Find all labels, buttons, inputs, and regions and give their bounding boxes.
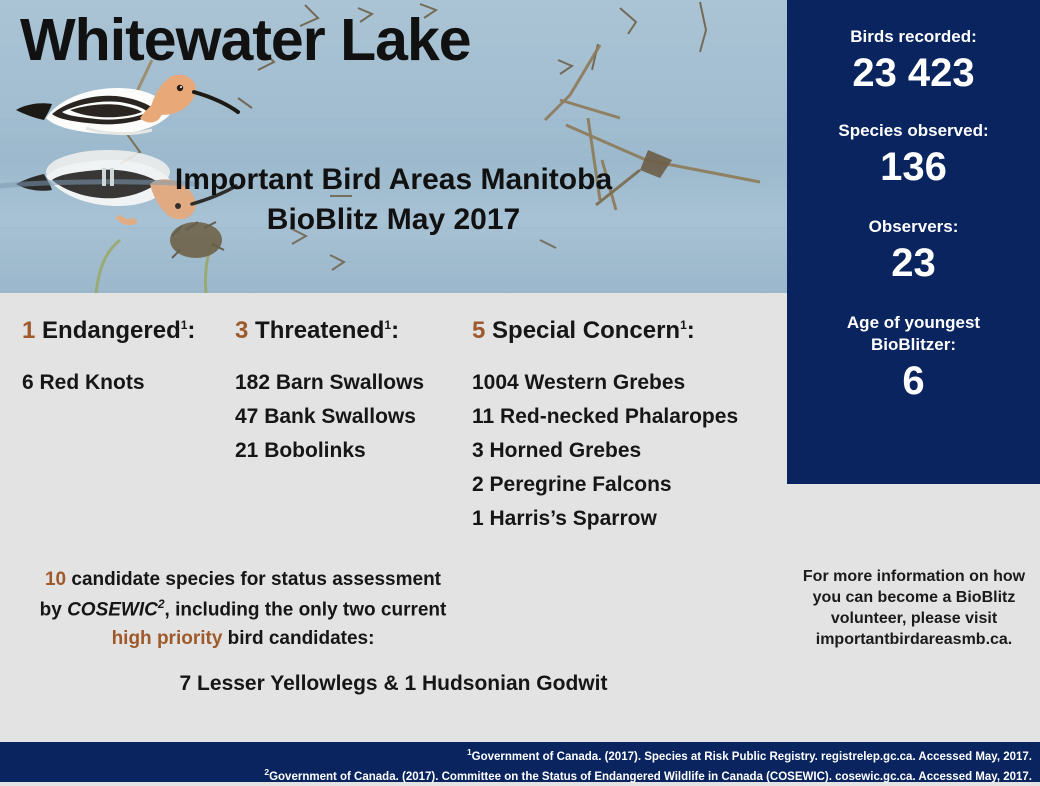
cosewic-line-2-text: , including the only two current	[165, 599, 447, 620]
cosewic-organization: COSEWIC	[67, 599, 158, 620]
header-photo: Whitewater Lake Important Bird Areas Man…	[0, 0, 787, 293]
special-concern-colon: :	[687, 317, 695, 344]
stat-label-youngest-line-2: BioBlitzer:	[787, 334, 1040, 356]
cosewic-line-3: high priority bird candidates:	[18, 625, 468, 654]
cosewic-line-1: 10 candidate species for status assessme…	[18, 566, 468, 595]
column-heading-endangered: 1 Endangered1:	[22, 318, 227, 344]
subtitle-line-2: BioBlitz May 2017	[0, 200, 787, 240]
cosewic-line-3-text: bird candidates:	[222, 628, 374, 649]
subtitle-line-1: Important Bird Areas Manitoba	[175, 163, 612, 196]
info-line-1: For more information on how	[790, 566, 1038, 587]
stats-panel: Birds recorded: 23 423 Species observed:…	[787, 0, 1040, 484]
stat-label-birds-recorded: Birds recorded:	[787, 26, 1040, 48]
stat-species-observed: Species observed: 136	[787, 120, 1040, 190]
stat-youngest-bioblitzer: Age of youngest BioBlitzer: 6	[787, 312, 1040, 404]
column-threatened: 3 Threatened1: 182 Barn Swallows 47 Bank…	[235, 318, 465, 468]
cosewic-line-1-text: candidate species for status assessment	[66, 569, 441, 590]
cosewic-line-2: by COSEWIC2, including the only two curr…	[18, 595, 468, 625]
more-information-blurb: For more information on how you can beco…	[790, 566, 1038, 650]
cosewic-paragraph: 10 candidate species for status assessme…	[18, 566, 468, 654]
page-subtitle: Important Bird Areas Manitoba BioBlitz M…	[0, 160, 787, 240]
special-concern-count: 5	[472, 317, 485, 344]
infographic-page: Whitewater Lake Important Bird Areas Man…	[0, 0, 1040, 782]
footnote-bar: 1Government of Canada. (2017). Species a…	[0, 742, 1040, 782]
footnote-2: 2Government of Canada. (2017). Committee…	[0, 766, 1032, 786]
species-columns: 1 Endangered1: 6 Red Knots 3 Threatened1…	[0, 318, 787, 558]
list-item: 47 Bank Swallows	[235, 400, 465, 434]
info-website-url[interactable]: importantbirdareasmb.ca.	[790, 629, 1038, 650]
endangered-colon: :	[187, 317, 195, 344]
stat-value-observers: 23	[787, 240, 1040, 286]
footnote-1: 1Government of Canada. (2017). Species a…	[0, 746, 1032, 766]
endangered-count: 1	[22, 317, 35, 344]
list-item: 1 Harris’s Sparrow	[472, 502, 782, 536]
threatened-count: 3	[235, 317, 248, 344]
list-item: 21 Bobolinks	[235, 434, 465, 468]
info-line-2: you can become a BioBlitz	[790, 587, 1038, 608]
threatened-colon: :	[391, 317, 399, 344]
list-item: 6 Red Knots	[22, 366, 227, 400]
special-concern-footnote-marker: 1	[680, 318, 687, 332]
list-item: 1004 Western Grebes	[472, 366, 782, 400]
footnote-1-text: Government of Canada. (2017). Species at…	[472, 751, 1032, 763]
column-endangered: 1 Endangered1: 6 Red Knots	[22, 318, 227, 400]
stat-label-youngest-line-1: Age of youngest	[787, 312, 1040, 334]
list-item: 182 Barn Swallows	[235, 366, 465, 400]
footnote-2-text: Government of Canada. (2017). Committee …	[269, 771, 1032, 783]
high-priority-candidates: 7 Lesser Yellowlegs & 1 Hudsonian Godwit	[0, 672, 787, 696]
cosewic-footnote-marker: 2	[158, 597, 165, 611]
threatened-status-label: Threatened	[255, 317, 384, 344]
stat-observers: Observers: 23	[787, 216, 1040, 286]
stat-value-birds-recorded: 23 423	[787, 50, 1040, 96]
cosewic-count: 10	[45, 569, 66, 590]
page-title: Whitewater Lake	[20, 10, 471, 72]
stat-label-observers: Observers:	[787, 216, 1040, 238]
stat-label-species-observed: Species observed:	[787, 120, 1040, 142]
info-line-3: volunteer, please visit	[790, 608, 1038, 629]
list-item: 3 Horned Grebes	[472, 434, 782, 468]
cosewic-highlight: high priority	[112, 628, 223, 649]
list-item: 11 Red-necked Phalaropes	[472, 400, 782, 434]
stat-value-youngest-bioblitzer: 6	[787, 358, 1040, 404]
special-concern-status-label: Special Concern	[492, 317, 680, 344]
cosewic-line-2-prefix: by	[40, 599, 67, 620]
stat-value-species-observed: 136	[787, 144, 1040, 190]
column-special-concern: 5 Special Concern1: 1004 Western Grebes …	[472, 318, 782, 536]
column-heading-threatened: 3 Threatened1:	[235, 318, 465, 344]
list-item: 2 Peregrine Falcons	[472, 468, 782, 502]
stat-birds-recorded: Birds recorded: 23 423	[787, 26, 1040, 96]
endangered-status-label: Endangered	[42, 317, 181, 344]
column-heading-special-concern: 5 Special Concern1:	[472, 318, 782, 344]
